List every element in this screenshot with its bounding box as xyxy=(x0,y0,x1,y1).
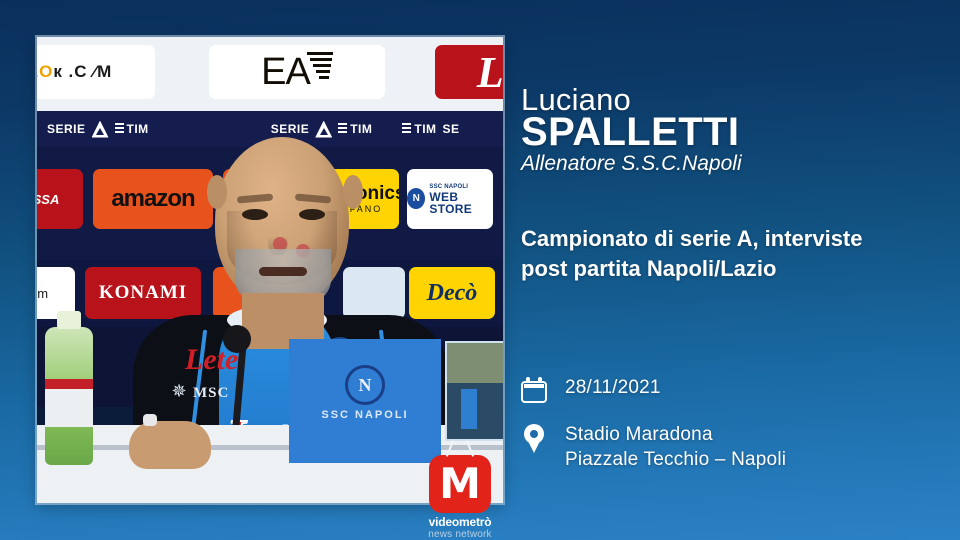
sponsor-label-ea7: EA xyxy=(261,50,333,94)
sponsor-label-ssa: SSA xyxy=(37,192,59,207)
tim-logo-icon: TIM xyxy=(402,122,436,136)
sponsor-label-webstore: N SSC NAPOLIWEB STORE xyxy=(407,182,493,216)
napoli-placard: N SSC NAPOLI xyxy=(289,339,441,463)
press-conference-photo: LOк .C ⁄M EA Le SERIE TIM SER xyxy=(37,37,503,503)
sponsor-panel-amazon: amazon xyxy=(93,169,213,229)
calendar-icon xyxy=(521,377,547,403)
monitor-screen xyxy=(445,341,503,441)
sponsor-label-lete: Le xyxy=(477,47,503,98)
sponsor-panel-ssa: SSA xyxy=(37,169,83,229)
sponsor-label-om: om xyxy=(37,286,49,301)
event-subject: Campionato di serie A, interviste post p… xyxy=(521,224,931,283)
serie-a-unit: TIM SE xyxy=(402,122,459,136)
event-location-row: Stadio Maradona Piazzale Tecchio – Napol… xyxy=(521,422,786,472)
event-location: Stadio Maradona Piazzale Tecchio – Napol… xyxy=(565,422,786,472)
map-pin-icon xyxy=(521,424,547,454)
antenna-icon xyxy=(440,440,480,456)
event-date: 28/11/2021 xyxy=(565,375,661,400)
sponsor-panel-ea7: EA xyxy=(209,45,385,99)
sponsor-panel-deco: Decò xyxy=(409,267,495,319)
eye-left xyxy=(242,209,268,220)
event-subject-line-1: Campionato di serie A, interviste xyxy=(521,224,931,254)
serie-a-unit: SERIE TIM xyxy=(271,121,373,138)
logo-mark-m: M xyxy=(439,463,481,505)
sponsor-panel-sun xyxy=(343,267,405,319)
ear-left xyxy=(207,175,227,209)
serie-label: SERIE xyxy=(271,122,310,136)
tim-logo-icon: TIM xyxy=(115,122,149,136)
info-panel: Luciano SPALLETTI Allenatore S.S.C.Napol… xyxy=(521,0,941,540)
videometro-logo: M videometrò news network xyxy=(425,455,495,540)
ear-right xyxy=(343,175,363,209)
person-role: Allenatore S.S.C.Napoli xyxy=(521,152,742,176)
placard-label: SSC NAPOLI xyxy=(289,409,441,421)
sponsor-panel-com: LOк .C ⁄M xyxy=(37,45,155,99)
tim-logo-icon: TIM xyxy=(338,122,372,136)
subject-hand xyxy=(129,421,211,469)
person-last-name: SPALLETTI xyxy=(521,110,739,155)
event-venue: Stadio Maradona xyxy=(565,422,786,447)
sponsor-panel-lete: Le xyxy=(435,45,503,99)
event-address: Piazzale Tecchio – Napoli xyxy=(565,447,786,472)
water-bottle xyxy=(45,327,93,465)
jacket-sponsor-msc: MSC xyxy=(193,385,229,402)
photo-content: LOк .C ⁄M EA Le SERIE TIM SER xyxy=(37,37,503,503)
sponsor-label-amazon: amazon xyxy=(111,185,194,213)
sponsor-label-deco: Decò xyxy=(427,280,478,307)
logo-name: videometrò xyxy=(425,515,495,529)
serie-a-logo-icon xyxy=(92,121,109,138)
napoli-crest-icon: N xyxy=(407,188,425,209)
sponsor-panel-konami: KONAMI xyxy=(85,267,201,319)
tv-logo-icon: M xyxy=(429,455,491,513)
mouth xyxy=(259,267,307,276)
bottle-label-lete xyxy=(45,379,93,427)
sponsor-label-com: LOк .C ⁄M xyxy=(37,62,112,82)
sponsor-label-konami: KONAMI xyxy=(99,282,187,304)
serie-label: SERIE xyxy=(47,122,86,136)
logo-tagline: news network xyxy=(425,529,495,540)
event-date-row: 28/11/2021 xyxy=(521,375,661,403)
lower-third-graphic: LOк .C ⁄M EA Le SERIE TIM SER xyxy=(0,0,960,540)
serie-label: SE xyxy=(443,122,460,136)
sponsor-panel-webstore: N SSC NAPOLIWEB STORE xyxy=(407,169,493,229)
serie-a-logo-icon xyxy=(315,121,332,138)
napoli-crest-icon: N xyxy=(345,365,385,405)
microphone-head-icon xyxy=(223,325,251,353)
compass-star-icon: ✵ xyxy=(169,381,189,401)
event-subject-line-2: post partita Napoli/Lazio xyxy=(521,254,931,284)
sponsor-board-top: LOк .C ⁄M EA Le xyxy=(37,37,503,111)
eye-right xyxy=(299,209,325,220)
serie-a-unit: SERIE TIM xyxy=(47,121,149,138)
